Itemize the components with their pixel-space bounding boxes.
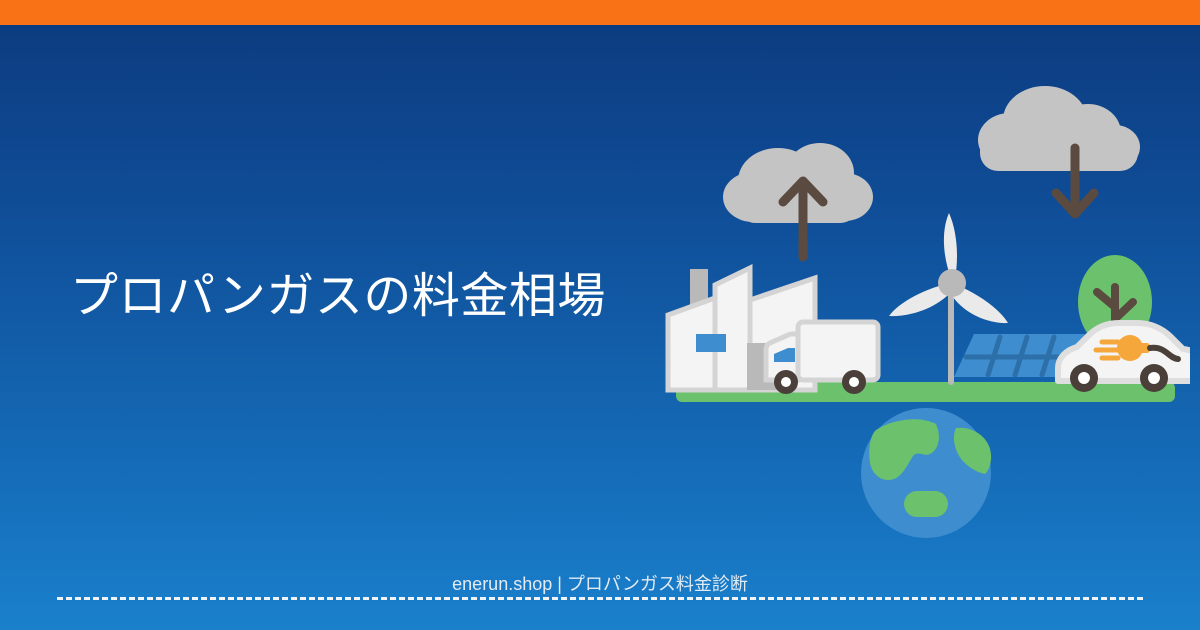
earth-globe-icon <box>861 408 991 538</box>
footer-branding: enerun.shop | プロパンガス料金診断 <box>0 573 1200 595</box>
page-title: プロパンガスの料金相場 <box>70 268 606 326</box>
eco-energy-illustration <box>660 85 1190 545</box>
footer-divider <box>57 597 1143 600</box>
slide-canvas: プロパンガスの料金相場 <box>0 0 1200 630</box>
electric-car-icon <box>1058 323 1190 392</box>
top-accent-bar <box>0 0 1200 25</box>
absorption-cloud-icon <box>978 86 1140 171</box>
